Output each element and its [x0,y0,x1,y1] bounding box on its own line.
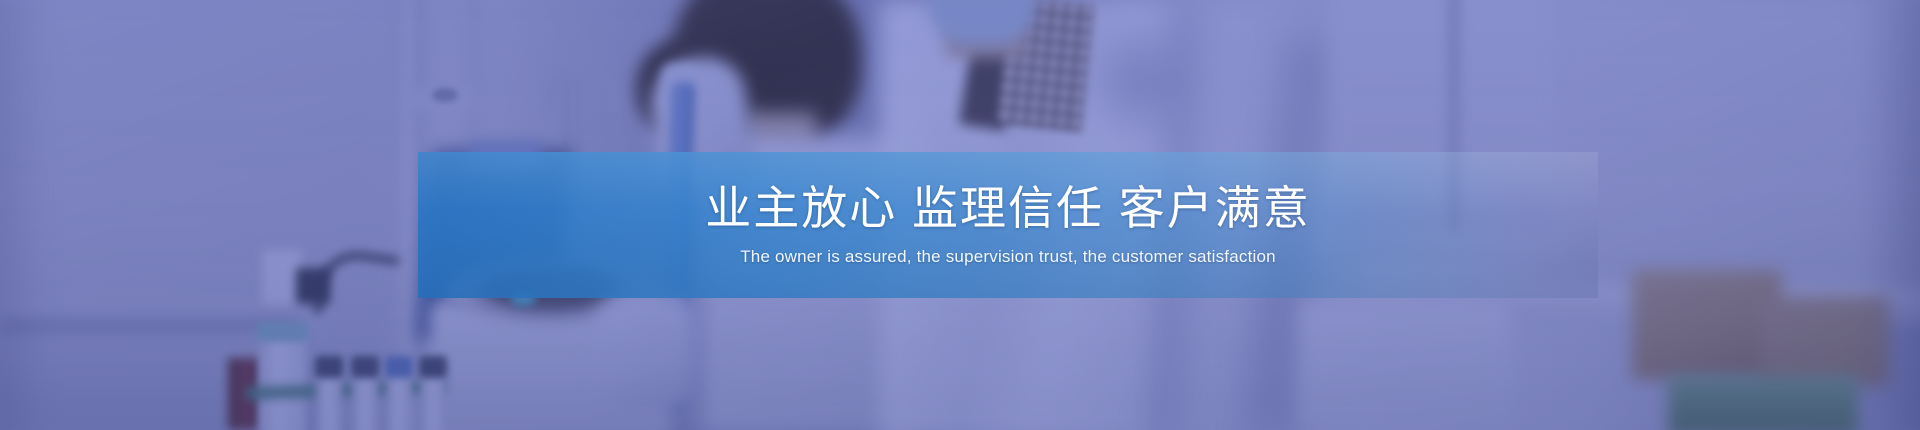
banner-headline: 业主放心 监理信任 客户满意 [705,183,1311,234]
banner-subheadline: The owner is assured, the supervision tr… [740,247,1276,267]
caption-text-group: 业主放心 监理信任 客户满意 The owner is assured, the… [418,152,1598,298]
hero-banner: 业主放心 监理信任 客户满意 The owner is assured, the… [0,0,1920,430]
